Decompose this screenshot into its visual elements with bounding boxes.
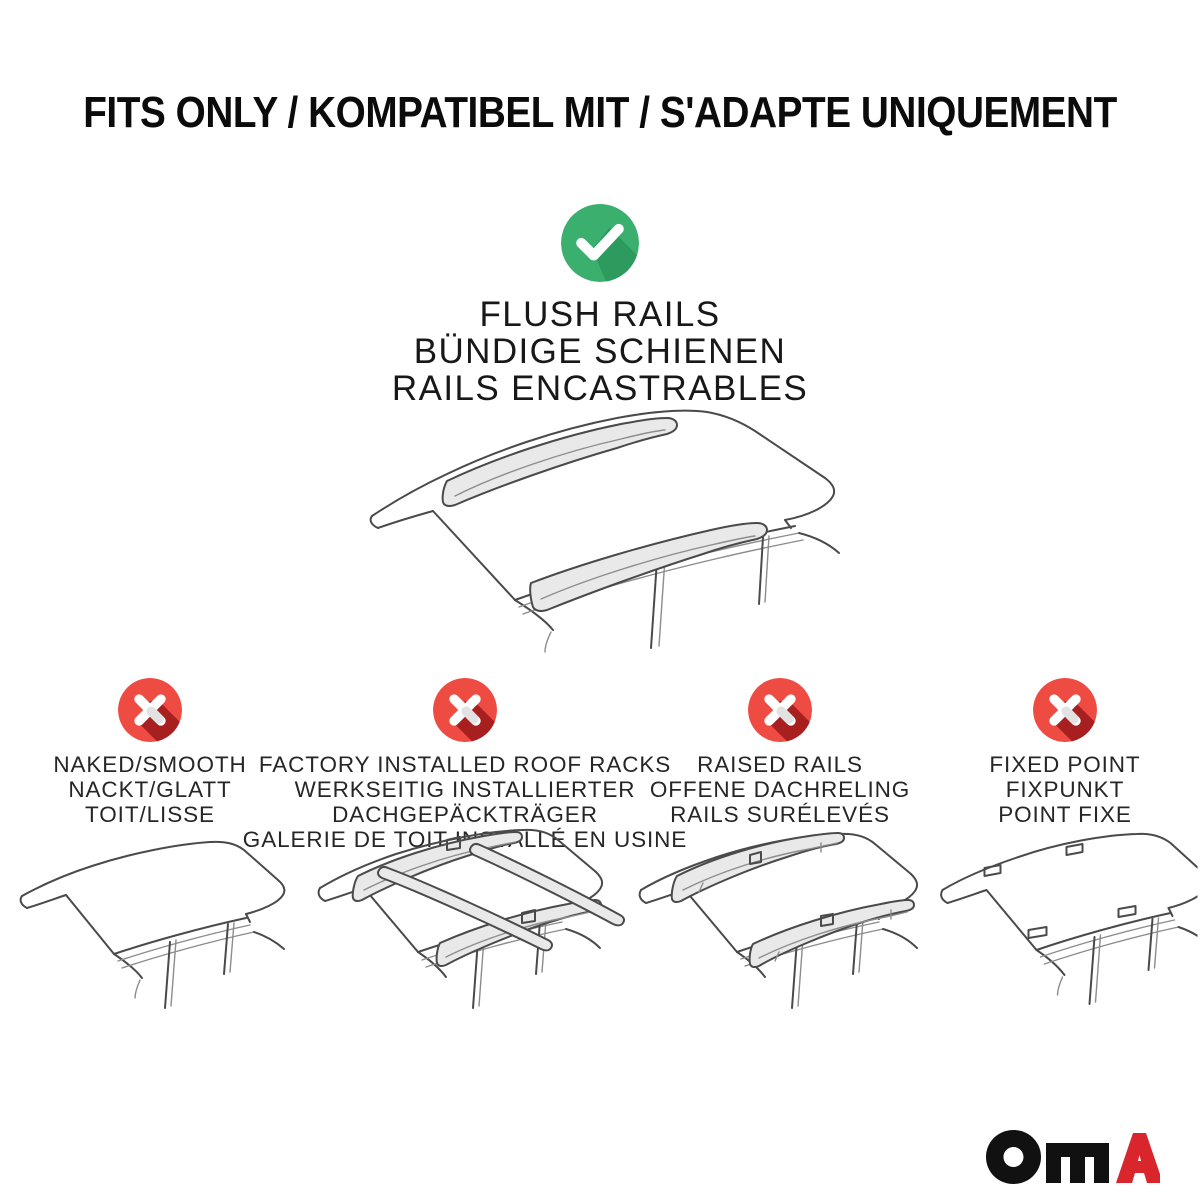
caption-line-fr: TOIT/LISSE <box>53 802 246 827</box>
incompatible-caption: RAISED RAILS OFFENE DACHRELING RAILS SUR… <box>650 752 910 827</box>
cross-circle-icon <box>433 678 497 742</box>
omac-logo <box>985 1128 1160 1184</box>
incompatible-caption: NAKED/SMOOTH NACKT/GLATT TOIT/LISSE <box>53 752 246 827</box>
incompatible-item-fixed-point: FIXED POINT FIXPUNKT POINT FIXE <box>930 678 1200 1108</box>
check-circle-icon <box>561 204 639 282</box>
infographic-page: FITS ONLY / KOMPATIBEL MIT / S'ADAPTE UN… <box>0 0 1200 1200</box>
page-title: FITS ONLY / KOMPATIBEL MIT / S'ADAPTE UN… <box>72 88 1128 138</box>
incompatible-caption: FIXED POINT FIXPUNKT POINT FIXE <box>989 752 1140 827</box>
caption-line-en: FACTORY INSTALLED ROOF RACKS <box>243 752 687 777</box>
caption-line-en: NAKED/SMOOTH <box>53 752 246 777</box>
car-roof-with-flush-rails-illustration <box>355 404 855 654</box>
caption-line-fr: POINT FIXE <box>989 802 1140 827</box>
caption-line-de-1: WERKSEITIG INSTALLIERTER <box>243 777 687 802</box>
caption-line-en: FLUSH RAILS <box>392 296 808 333</box>
caption-line-en: RAISED RAILS <box>650 752 910 777</box>
car-roof-with-raised-rails-illustration <box>625 828 935 1018</box>
caption-line-de: OFFENE DACHRELING <box>650 777 910 802</box>
car-roof-with-fixed-points-illustration <box>933 830 1198 1020</box>
incompatible-item-raised-rails: RAISED RAILS OFFENE DACHRELING RAILS SUR… <box>630 678 930 1108</box>
caption-line-de: NACKT/GLATT <box>53 777 246 802</box>
caption-line-de: FIXPUNKT <box>989 777 1140 802</box>
caption-line-fr: RAILS SURÉLEVÉS <box>650 802 910 827</box>
caption-line-fr: RAILS ENCASTRABLES <box>392 370 808 407</box>
compatible-caption: FLUSH RAILS BÜNDIGE SCHIENEN RAILS ENCAS… <box>392 296 808 407</box>
caption-line-de: BÜNDIGE SCHIENEN <box>392 333 808 370</box>
caption-line-en: FIXED POINT <box>989 752 1140 777</box>
cross-circle-icon <box>1033 678 1097 742</box>
incompatible-section: NAKED/SMOOTH NACKT/GLATT TOIT/LISSE <box>0 678 1200 1108</box>
car-roof-bare-illustration <box>10 838 290 1018</box>
cross-circle-icon <box>748 678 812 742</box>
compatible-section: FLUSH RAILS BÜNDIGE SCHIENEN RAILS ENCAS… <box>0 204 1200 407</box>
incompatible-item-naked-smooth: NAKED/SMOOTH NACKT/GLATT TOIT/LISSE <box>0 678 300 1108</box>
incompatible-item-factory-roof-racks: FACTORY INSTALLED ROOF RACKS WERKSEITIG … <box>300 678 630 1108</box>
cross-circle-icon <box>118 678 182 742</box>
car-roof-with-factory-crossbars-illustration <box>300 824 630 1019</box>
